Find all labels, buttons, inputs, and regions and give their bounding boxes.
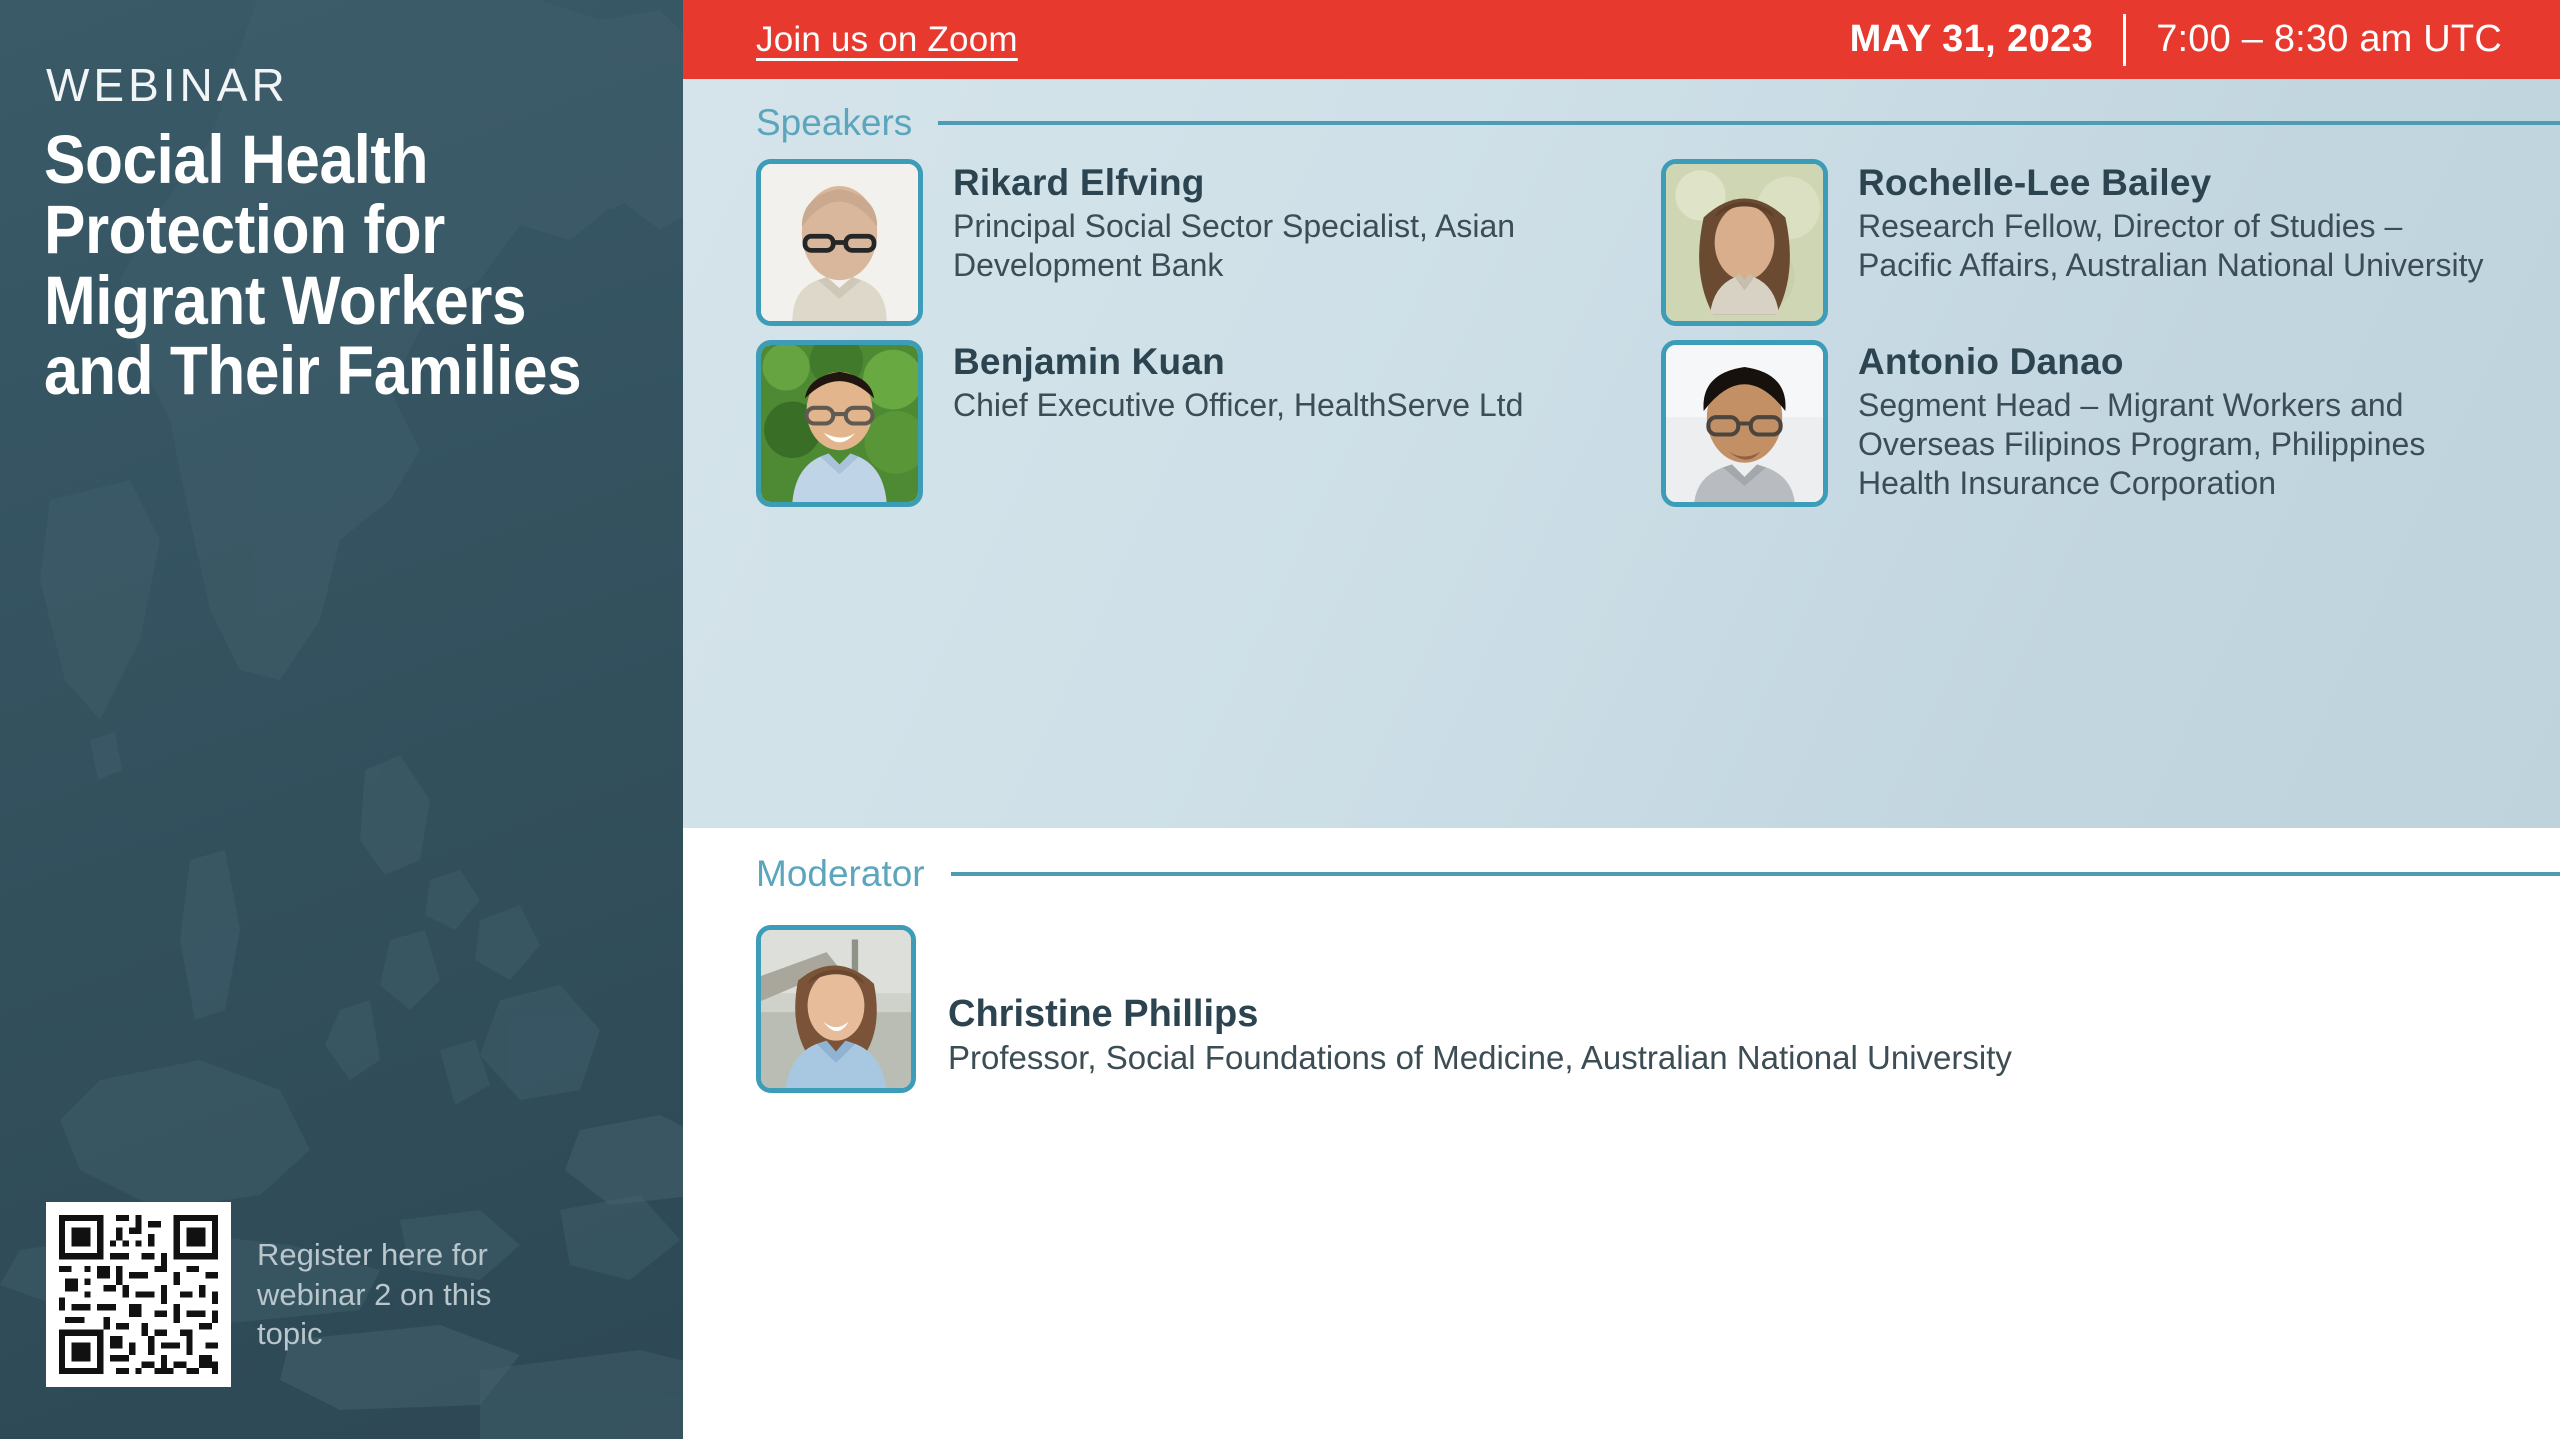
webinar-poster: WEBINAR Social Health Protection for Mig… (0, 0, 2560, 1439)
moderator-rule (951, 872, 2560, 876)
speaker-card: Rikard Elfving Principal Social Sector S… (756, 159, 1611, 326)
speaker-name: Benjamin Kuan (953, 342, 1523, 383)
portrait-rikard-elfving (756, 159, 923, 326)
portrait-benjamin-kuan (756, 340, 923, 507)
event-datetime: MAY 31, 2023 7:00 – 8:30 am UTC (1850, 14, 2502, 66)
speakers-panel: Speakers (683, 79, 2560, 828)
portrait-antonio-danao (1661, 340, 1828, 507)
speakers-label: Speakers (756, 102, 912, 144)
qr-registration-block[interactable]: Register here for webinar 2 on this topi… (46, 1202, 537, 1387)
speaker-role: Segment Head – Migrant Workers and Overs… (1858, 386, 2498, 503)
qr-code-icon[interactable] (46, 1202, 231, 1387)
moderator-section-header: Moderator (756, 853, 2560, 895)
speaker-role: Principal Social Sector Specialist, Asia… (953, 207, 1593, 285)
join-zoom-link[interactable]: Join us on Zoom (756, 20, 1018, 60)
speakers-rule (938, 121, 2560, 125)
page-kicker: WEBINAR (46, 58, 289, 112)
right-column: Join us on Zoom MAY 31, 2023 7:00 – 8:30… (683, 0, 2560, 1439)
speakers-grid: Rikard Elfving Principal Social Sector S… (756, 159, 2516, 507)
header-bar: Join us on Zoom MAY 31, 2023 7:00 – 8:30… (683, 0, 2560, 79)
moderator-name: Christine Phillips (948, 993, 2012, 1036)
moderator-role: Professor, Social Foundations of Medicin… (948, 1039, 2012, 1077)
moderator-label: Moderator (756, 853, 925, 895)
speakers-section-header: Speakers (756, 102, 2560, 144)
register-text: Register here for webinar 2 on this topi… (257, 1235, 537, 1354)
left-panel: WEBINAR Social Health Protection for Mig… (0, 0, 683, 1439)
portrait-rochelle-lee-bailey (1661, 159, 1828, 326)
speaker-card: Rochelle-Lee Bailey Research Fellow, Dir… (1661, 159, 2516, 326)
event-time: 7:00 – 8:30 am UTC (2126, 18, 2502, 61)
speaker-card: Benjamin Kuan Chief Executive Officer, H… (756, 340, 1611, 507)
moderator-section: Moderator (683, 828, 2560, 1439)
speaker-name: Rikard Elfving (953, 163, 1593, 204)
speaker-role: Research Fellow, Director of Studies – P… (1858, 207, 2498, 285)
page-title: Social Health Protection for Migrant Wor… (44, 125, 602, 407)
speaker-card: Antonio Danao Segment Head – Migrant Wor… (1661, 340, 2516, 507)
speaker-name: Rochelle-Lee Bailey (1858, 163, 2498, 204)
event-date: MAY 31, 2023 (1850, 18, 2124, 61)
portrait-christine-phillips (756, 925, 916, 1093)
speaker-role: Chief Executive Officer, HealthServe Ltd (953, 386, 1523, 425)
moderator-card: Christine Phillips Professor, Social Fou… (756, 925, 2012, 1093)
speaker-name: Antonio Danao (1858, 342, 2498, 383)
